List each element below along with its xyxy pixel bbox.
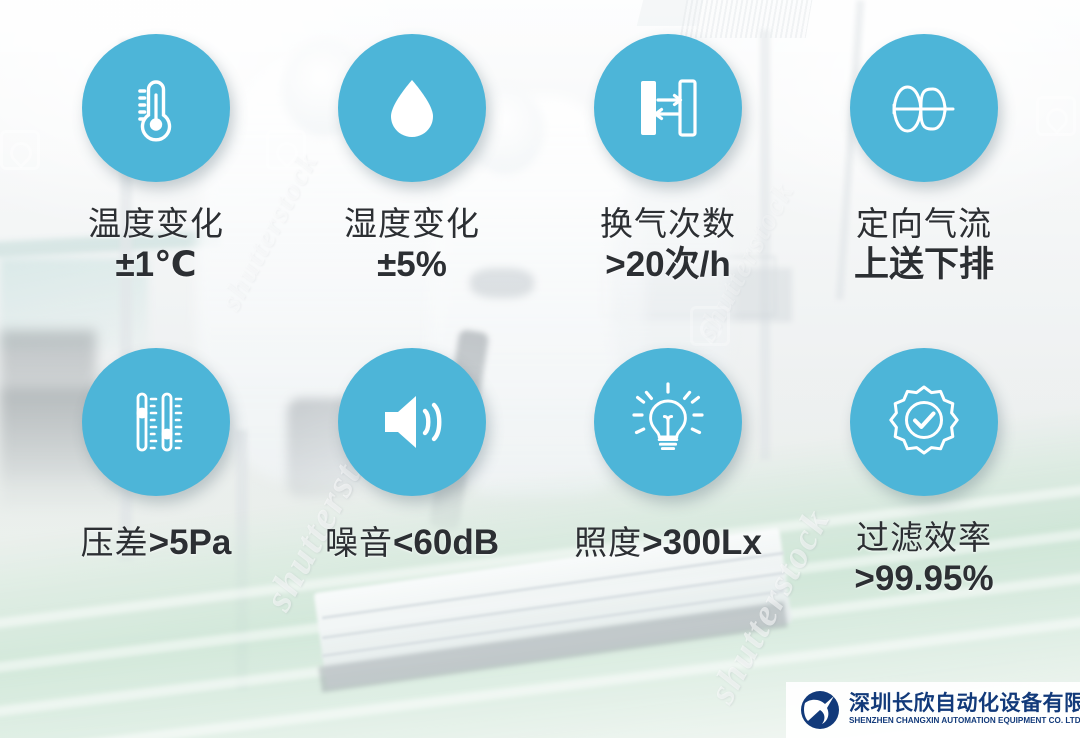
feature-item-temperature[interactable]: 温度变化 ±1℃	[28, 34, 284, 334]
feature-label: 湿度变化 ±5%	[344, 204, 480, 287]
feature-item-illumination[interactable]: 照度>300Lx	[540, 334, 796, 634]
feature-label-line2: 上送下排	[854, 244, 994, 287]
feature-item-airflow[interactable]: 定向气流 上送下排	[796, 34, 1052, 334]
feature-item-pressure[interactable]: 压差>5Pa	[28, 334, 284, 634]
feature-label: 温度变化 ±1℃	[88, 204, 224, 287]
badge-circle[interactable]	[82, 348, 230, 496]
feature-label-line2: >300Lx	[642, 523, 762, 562]
feature-item-humidity[interactable]: 湿度变化 ±5%	[284, 34, 540, 334]
badge-circle[interactable]	[338, 34, 486, 182]
lightbulb-icon	[626, 380, 710, 464]
feature-label-line1: 定向气流	[854, 204, 994, 244]
badge-circle[interactable]	[594, 348, 742, 496]
feature-label-line1: 湿度变化	[344, 204, 480, 244]
feature-label-line1: 换气次数	[600, 204, 736, 244]
feature-label-line1: 过滤效率	[854, 518, 993, 558]
company-logo-text: 深圳长欣自动化设备有限公司 SHENZHEN CHANGXIN AUTOMATI…	[849, 693, 1080, 727]
feature-label-line1: 压差	[81, 524, 149, 561]
feature-item-filtration[interactable]: 过滤效率 >99.95%	[796, 334, 1052, 634]
feature-label-line2: >5Pa	[149, 523, 232, 562]
speaker-sound-icon	[371, 381, 453, 463]
feature-label: 照度>300Lx	[574, 522, 762, 565]
feature-label-line2: >99.95%	[854, 558, 993, 601]
certified-badge-icon	[882, 380, 966, 464]
badge-circle[interactable]	[850, 34, 998, 182]
badge-circle[interactable]	[850, 348, 998, 496]
water-drop-icon	[373, 69, 451, 147]
feature-label: 压差>5Pa	[81, 522, 232, 565]
company-logo-panel[interactable]: 深圳长欣自动化设备有限公司 SHENZHEN CHANGXIN AUTOMATI…	[786, 682, 1080, 738]
badge-circle[interactable]	[594, 34, 742, 182]
pressure-slider-icon	[116, 382, 196, 462]
air-exchange-icon	[627, 67, 709, 149]
feature-label-line1: 温度变化	[88, 204, 224, 244]
feature-label-line2: >20次/h	[600, 244, 736, 287]
feature-item-noise[interactable]: 噪音<60dB	[284, 334, 540, 634]
feature-label-line1: 噪音	[325, 524, 393, 561]
feature-label: 噪音<60dB	[325, 522, 499, 565]
company-name-en: SHENZHEN CHANGXIN AUTOMATION EQUIPMENT C…	[849, 715, 1080, 726]
feature-label-line1: 照度	[574, 524, 642, 561]
feature-label-line2: ±1℃	[88, 244, 224, 287]
badge-circle[interactable]	[82, 34, 230, 182]
thermometer-icon	[117, 69, 195, 147]
company-name-cn: 深圳长欣自动化设备有限公司	[849, 693, 1080, 715]
feature-label-line2: ±5%	[344, 244, 480, 287]
feature-label: 换气次数 >20次/h	[600, 204, 736, 287]
airflow-wave-icon	[881, 65, 967, 151]
changxin-x-logo-icon	[800, 690, 840, 730]
feature-item-air-changes[interactable]: 换气次数 >20次/h	[540, 34, 796, 334]
badge-circle[interactable]	[338, 348, 486, 496]
feature-label: 定向气流 上送下排	[854, 204, 994, 287]
feature-label-line2: <60dB	[393, 523, 499, 562]
feature-label: 过滤效率 >99.95%	[854, 518, 993, 601]
feature-grid: 温度变化 ±1℃ 湿度变化 ±5%	[0, 0, 1080, 738]
